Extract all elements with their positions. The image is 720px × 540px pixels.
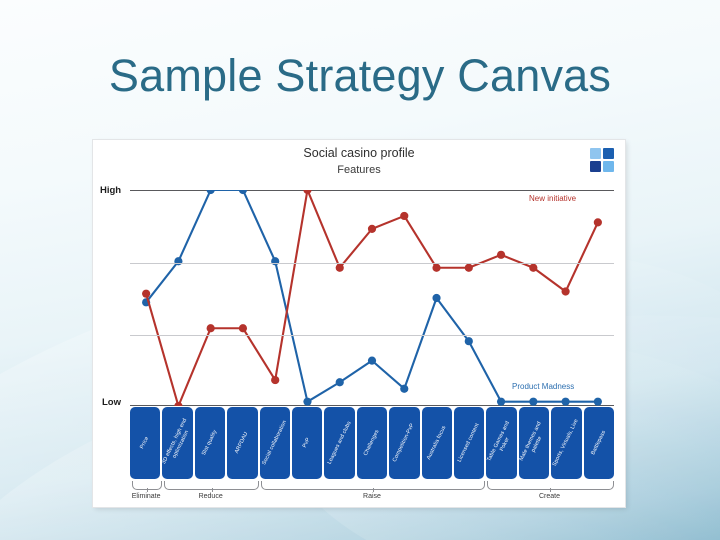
series-line-product-madness	[146, 190, 598, 402]
data-point	[207, 190, 215, 194]
series-label-new-initiative: New initiative	[529, 194, 576, 203]
bracket-label-eliminate: Eliminate	[132, 493, 161, 500]
bracket-axis: EliminateReduceRaiseCreate	[130, 481, 614, 503]
data-point	[142, 290, 150, 298]
data-point	[303, 398, 311, 406]
data-point	[497, 251, 505, 259]
category-6[interactable]: PvP	[292, 407, 322, 479]
bracket-tick	[550, 488, 551, 492]
category-label: Male themes and palette	[519, 417, 549, 470]
logo-cell-4	[603, 161, 614, 172]
category-label: Licensed content	[457, 422, 482, 463]
category-15[interactable]: Battlepass	[584, 407, 614, 479]
data-point	[594, 398, 602, 406]
bracket-tick	[373, 488, 374, 492]
data-point	[400, 212, 408, 220]
chart-subtitle: Features	[93, 164, 625, 176]
data-point	[594, 218, 602, 226]
logo-cell-1	[590, 148, 601, 159]
data-point	[529, 398, 537, 406]
category-11[interactable]: Licensed content	[454, 407, 484, 479]
category-7[interactable]: Leagues and clubs	[324, 407, 354, 479]
category-label: ARPDAU	[234, 431, 250, 455]
bracket-create	[487, 481, 614, 490]
category-1[interactable]: Price	[130, 407, 160, 479]
category-label: Australia focus	[426, 425, 448, 461]
category-2[interactable]: 3D effects, high end optimization	[162, 407, 192, 479]
y-axis-label-high: High	[100, 185, 121, 196]
bracket-label-reduce: Reduce	[199, 493, 223, 500]
category-13[interactable]: Male themes and palette	[519, 407, 549, 479]
strategy-canvas-chart: Social casino profile Features High Low …	[93, 140, 625, 507]
gridline-2	[130, 335, 614, 336]
data-point	[271, 376, 279, 384]
data-point	[400, 385, 408, 393]
category-label: Sports, Virtuals, Live	[552, 418, 581, 468]
category-3[interactable]: Slot quality	[195, 407, 225, 479]
category-14[interactable]: Sports, Virtuals, Live	[551, 407, 581, 479]
bracket-tick	[147, 488, 148, 492]
logo-cell-2	[603, 148, 614, 159]
data-point	[368, 225, 376, 233]
data-point	[239, 190, 247, 194]
bracket-eliminate	[132, 481, 162, 490]
category-label: Leagues and clubs	[326, 420, 353, 465]
category-label: Slot quality	[201, 429, 219, 457]
data-point	[239, 324, 247, 332]
series-svg	[130, 190, 614, 406]
data-point	[465, 337, 473, 345]
series-line-new-initiative	[146, 190, 598, 406]
logo-cell-3	[590, 161, 601, 172]
bracket-reduce	[164, 481, 259, 490]
category-label: Social collaboration	[260, 418, 289, 468]
product-madness-logo-icon	[590, 148, 614, 172]
data-point	[432, 294, 440, 302]
data-point	[336, 264, 344, 272]
category-label: Challenges	[363, 429, 381, 457]
data-point	[336, 378, 344, 386]
data-point	[207, 324, 215, 332]
category-label: Competition-PvP	[392, 423, 416, 464]
category-label: Table Games and Poker	[486, 417, 516, 470]
category-label: Price	[139, 436, 151, 450]
slide-canvas: Sample Strategy Canvas Social casino pro…	[0, 0, 720, 540]
data-point	[303, 190, 311, 194]
category-12[interactable]: Table Games and Poker	[486, 407, 516, 479]
category-4[interactable]: ARPDAU	[227, 407, 257, 479]
category-5[interactable]: Social collaboration	[260, 407, 290, 479]
data-point	[174, 402, 182, 406]
data-point	[368, 357, 376, 365]
series-label-product-madness: Product Madness	[512, 382, 574, 391]
data-point	[465, 264, 473, 272]
plot-area	[130, 190, 614, 406]
data-point	[562, 287, 570, 295]
bracket-label-raise: Raise	[363, 493, 381, 500]
category-label: Battlepass	[590, 430, 608, 456]
data-point	[497, 398, 505, 406]
category-axis: Price3D effects, high end optimizationSl…	[130, 407, 614, 479]
category-9[interactable]: Competition-PvP	[389, 407, 419, 479]
data-point	[432, 264, 440, 272]
category-10[interactable]: Australia focus	[422, 407, 452, 479]
bracket-raise	[261, 481, 485, 490]
bracket-label-create: Create	[539, 493, 560, 500]
bracket-tick	[212, 488, 213, 492]
category-8[interactable]: Challenges	[357, 407, 387, 479]
page-title: Sample Strategy Canvas	[0, 52, 720, 99]
data-point	[562, 398, 570, 406]
y-axis-label-low: Low	[102, 397, 121, 408]
chart-title: Social casino profile	[93, 146, 625, 160]
gridline-1	[130, 263, 614, 264]
category-label: 3D effects, high end optimization	[162, 417, 192, 470]
data-point	[529, 264, 537, 272]
category-label: PvP	[302, 437, 313, 449]
